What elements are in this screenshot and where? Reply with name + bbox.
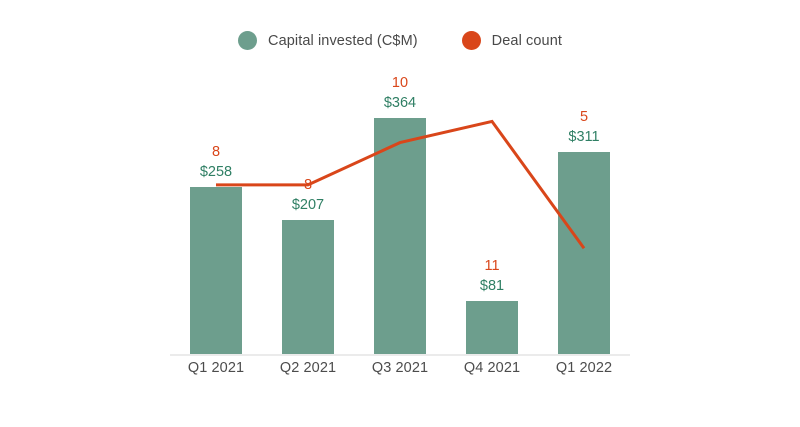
legend-item-capital-invested[interactable]: Capital invested (C$M) (238, 31, 418, 50)
bar-data-label-group: 8$207 (248, 176, 368, 215)
deal-count-label: 8 (248, 176, 368, 195)
chart-container: Capital invested (C$M) Deal count 8$2588… (0, 0, 800, 427)
plot-area: 8$2588$20710$36411$815$311 (170, 60, 630, 356)
x-axis-tick-labels: Q1 2021Q2 2021Q3 2021Q4 2021Q1 2022 (170, 360, 630, 384)
legend-label-capital-invested: Capital invested (C$M) (268, 33, 418, 49)
x-axis-tick-label: Q1 2022 (524, 360, 644, 376)
capital-invested-label: $258 (156, 162, 276, 182)
bar[interactable] (190, 187, 242, 354)
capital-invested-label: $311 (524, 127, 644, 147)
bar-data-label-group: 11$81 (432, 257, 552, 296)
circle-marker-icon (238, 31, 257, 50)
chart-legend: Capital invested (C$M) Deal count (0, 31, 800, 50)
deal-count-label: 8 (156, 143, 276, 162)
bar-data-label-group: 5$311 (524, 108, 644, 147)
bar[interactable] (282, 220, 334, 354)
bar[interactable] (374, 118, 426, 354)
deal-count-label: 10 (340, 74, 460, 93)
capital-invested-label: $364 (340, 93, 460, 113)
deal-count-label: 11 (432, 257, 552, 276)
capital-invested-label: $81 (432, 276, 552, 296)
bar[interactable] (558, 152, 610, 354)
circle-marker-icon (462, 31, 481, 50)
deal-count-label: 5 (524, 108, 644, 127)
bar-data-label-group: 8$258 (156, 143, 276, 182)
bar-data-label-group: 10$364 (340, 74, 460, 113)
capital-invested-label: $207 (248, 195, 368, 215)
legend-item-deal-count[interactable]: Deal count (462, 31, 562, 50)
legend-label-deal-count: Deal count (492, 33, 562, 49)
bar[interactable] (466, 301, 518, 354)
x-axis-line (170, 354, 630, 356)
